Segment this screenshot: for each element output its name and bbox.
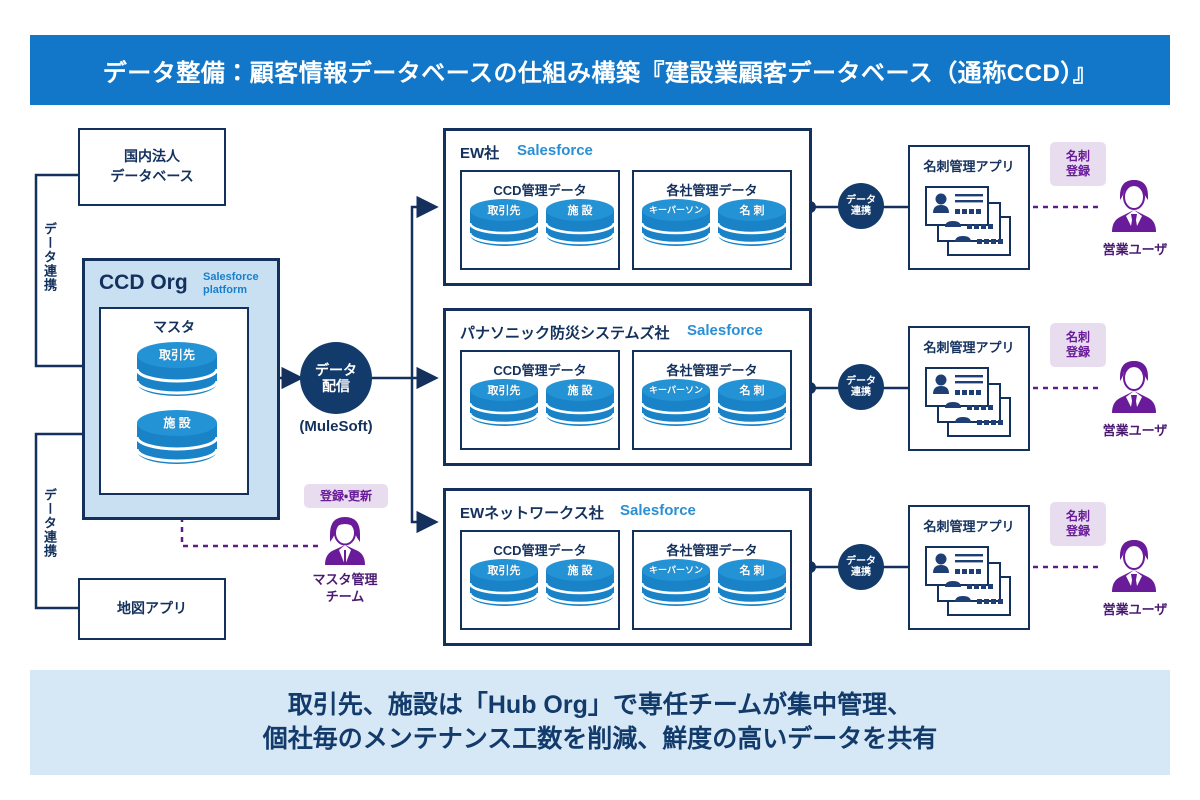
data-distribution-node: データ 配信 <box>300 342 372 414</box>
master-team-caption: マスタ管理 チーム <box>290 572 400 606</box>
cylinder-torihikisaki-master: 取引先 <box>135 341 219 397</box>
footer-line-2: 個社毎のメンテナンス工数を削減、鮮度の高いデータを共有 <box>263 723 938 757</box>
business-card-stack-icon <box>924 179 1020 266</box>
sales-user-icon-2 <box>1108 538 1160 594</box>
source-corporate-db-line1: 国内法人 <box>110 147 193 167</box>
data-link-node-0: データ 連携 <box>838 183 884 229</box>
card-register-badge-2: 名刺 登録 <box>1050 502 1106 546</box>
page-title: データ整備：顧客情報データベースの仕組み構築『建設業顧客データベース（通称CCD… <box>103 53 1098 88</box>
ccd-org-subtitle-line1: Salesforce <box>203 271 259 284</box>
mulesoft-caption: (MuleSoft) <box>296 418 376 435</box>
card-app-box-2: 名刺管理アプリ <box>908 505 1030 630</box>
data-link-line1: データ <box>846 556 876 568</box>
master-team-person-icon <box>320 514 370 566</box>
data-link-line1: データ <box>846 376 876 388</box>
cylinder-0-1-1: 名 刺 <box>716 198 788 248</box>
data-link-node-1: データ 連携 <box>838 364 884 410</box>
footer-line-1: 取引先、施設は「Hub Org」で専任チームが集中管理、 <box>288 689 912 723</box>
card-app-box-1: 名刺管理アプリ <box>908 326 1030 451</box>
cylinder-2-1-1: 名 刺 <box>716 558 788 608</box>
card-register-line2: 登録 <box>1066 524 1090 539</box>
link-label-bottom: データ連携 <box>40 488 59 558</box>
card-app-box-0: 名刺管理アプリ <box>908 145 1030 270</box>
link-label-top: データ連携 <box>40 222 59 292</box>
sales-user-icon-0 <box>1108 178 1160 234</box>
group-title: 各社管理データ <box>634 540 790 559</box>
sales-user-caption-2: 営業ユーザ <box>1085 602 1185 619</box>
card-register-line2: 登録 <box>1066 164 1090 179</box>
cylinder-2-0-1: 施 設 <box>544 558 616 608</box>
ccd-org-panel: CCD Org Salesforce platform マスタ 取引先 <box>82 258 280 520</box>
cylinder-1-1-1: 名 刺 <box>716 378 788 428</box>
master-data-title: マスタ <box>101 317 247 337</box>
cylinder-shisetsu-master: 施 設 <box>135 409 219 465</box>
data-link-line2: 連携 <box>851 206 871 218</box>
source-box-map-app: 地図アプリ <box>78 578 226 640</box>
master-team-caption-line1: マスタ管理 <box>290 572 400 589</box>
data-link-line2: 連携 <box>851 567 871 579</box>
cylinder-0-0-1: 施 設 <box>544 198 616 248</box>
source-corporate-db-line2: データベース <box>110 167 193 187</box>
data-distribution-line2: 配信 <box>322 378 350 394</box>
group-title: 各社管理データ <box>634 180 790 199</box>
master-team-caption-line2: チーム <box>290 589 400 606</box>
cylinder-1-0-1: 施 設 <box>544 378 616 428</box>
company-name-1: パナソニック防災システムズ社 <box>460 322 670 343</box>
card-register-line1: 名刺 <box>1066 149 1090 164</box>
company-platform-1: Salesforce <box>687 322 763 339</box>
card-app-title: 名刺管理アプリ <box>910 156 1028 175</box>
master-data-box: マスタ 取引先 施 設 <box>99 307 249 495</box>
company-name-0: EW社 <box>460 142 499 163</box>
register-update-badge: 登録・更新 <box>304 484 388 508</box>
card-register-line1: 名刺 <box>1066 509 1090 524</box>
sales-user-caption-1: 営業ユーザ <box>1085 423 1185 440</box>
ccd-org-subtitle-line2: platform <box>203 284 259 297</box>
ccd-org-subtitle: Salesforce platform <box>203 271 259 296</box>
cylinder-1-0-0: 取引先 <box>468 378 540 428</box>
card-register-badge-1: 名刺 登録 <box>1050 323 1106 367</box>
card-register-badge-0: 名刺 登録 <box>1050 142 1106 186</box>
data-link-node-2: データ 連携 <box>838 544 884 590</box>
ccd-org-title: CCD Org <box>99 271 188 295</box>
source-map-app-label: 地図アプリ <box>117 599 187 619</box>
group-title: CCD管理データ <box>462 360 618 379</box>
diagram-canvas: データ整備：顧客情報データベースの仕組み構築『建設業顧客データベース（通称CCD… <box>0 0 1200 800</box>
cylinder-2-0-0: 取引先 <box>468 558 540 608</box>
register-update-label: 登録・更新 <box>320 489 372 504</box>
card-app-title: 名刺管理アプリ <box>910 516 1028 535</box>
cylinder-0-1-0: キーパーソン <box>640 198 712 248</box>
cylinder-1-1-0: キーパーソン <box>640 378 712 428</box>
business-card-stack-icon <box>924 360 1020 447</box>
data-distribution-line1: データ <box>315 362 357 378</box>
company-platform-0: Salesforce <box>517 142 593 159</box>
sales-user-icon-1 <box>1108 359 1160 415</box>
sales-user-caption-0: 営業ユーザ <box>1085 242 1185 259</box>
data-link-line2: 連携 <box>851 387 871 399</box>
footer-banner: 取引先、施設は「Hub Org」で専任チームが集中管理、 個社毎のメンテナンス工… <box>30 670 1170 775</box>
company-platform-2: Salesforce <box>620 502 696 519</box>
header-banner: データ整備：顧客情報データベースの仕組み構築『建設業顧客データベース（通称CCD… <box>30 35 1170 105</box>
data-link-line1: データ <box>846 195 876 207</box>
card-register-line2: 登録 <box>1066 345 1090 360</box>
source-box-corporate-db: 国内法人 データベース <box>78 128 226 206</box>
group-title: CCD管理データ <box>462 540 618 559</box>
card-register-line1: 名刺 <box>1066 330 1090 345</box>
group-title: CCD管理データ <box>462 180 618 199</box>
group-title: 各社管理データ <box>634 360 790 379</box>
card-app-title: 名刺管理アプリ <box>910 337 1028 356</box>
cylinder-2-1-0: キーパーソン <box>640 558 712 608</box>
business-card-stack-icon <box>924 539 1020 626</box>
company-name-2: EWネットワークス社 <box>460 502 604 523</box>
cylinder-0-0-0: 取引先 <box>468 198 540 248</box>
